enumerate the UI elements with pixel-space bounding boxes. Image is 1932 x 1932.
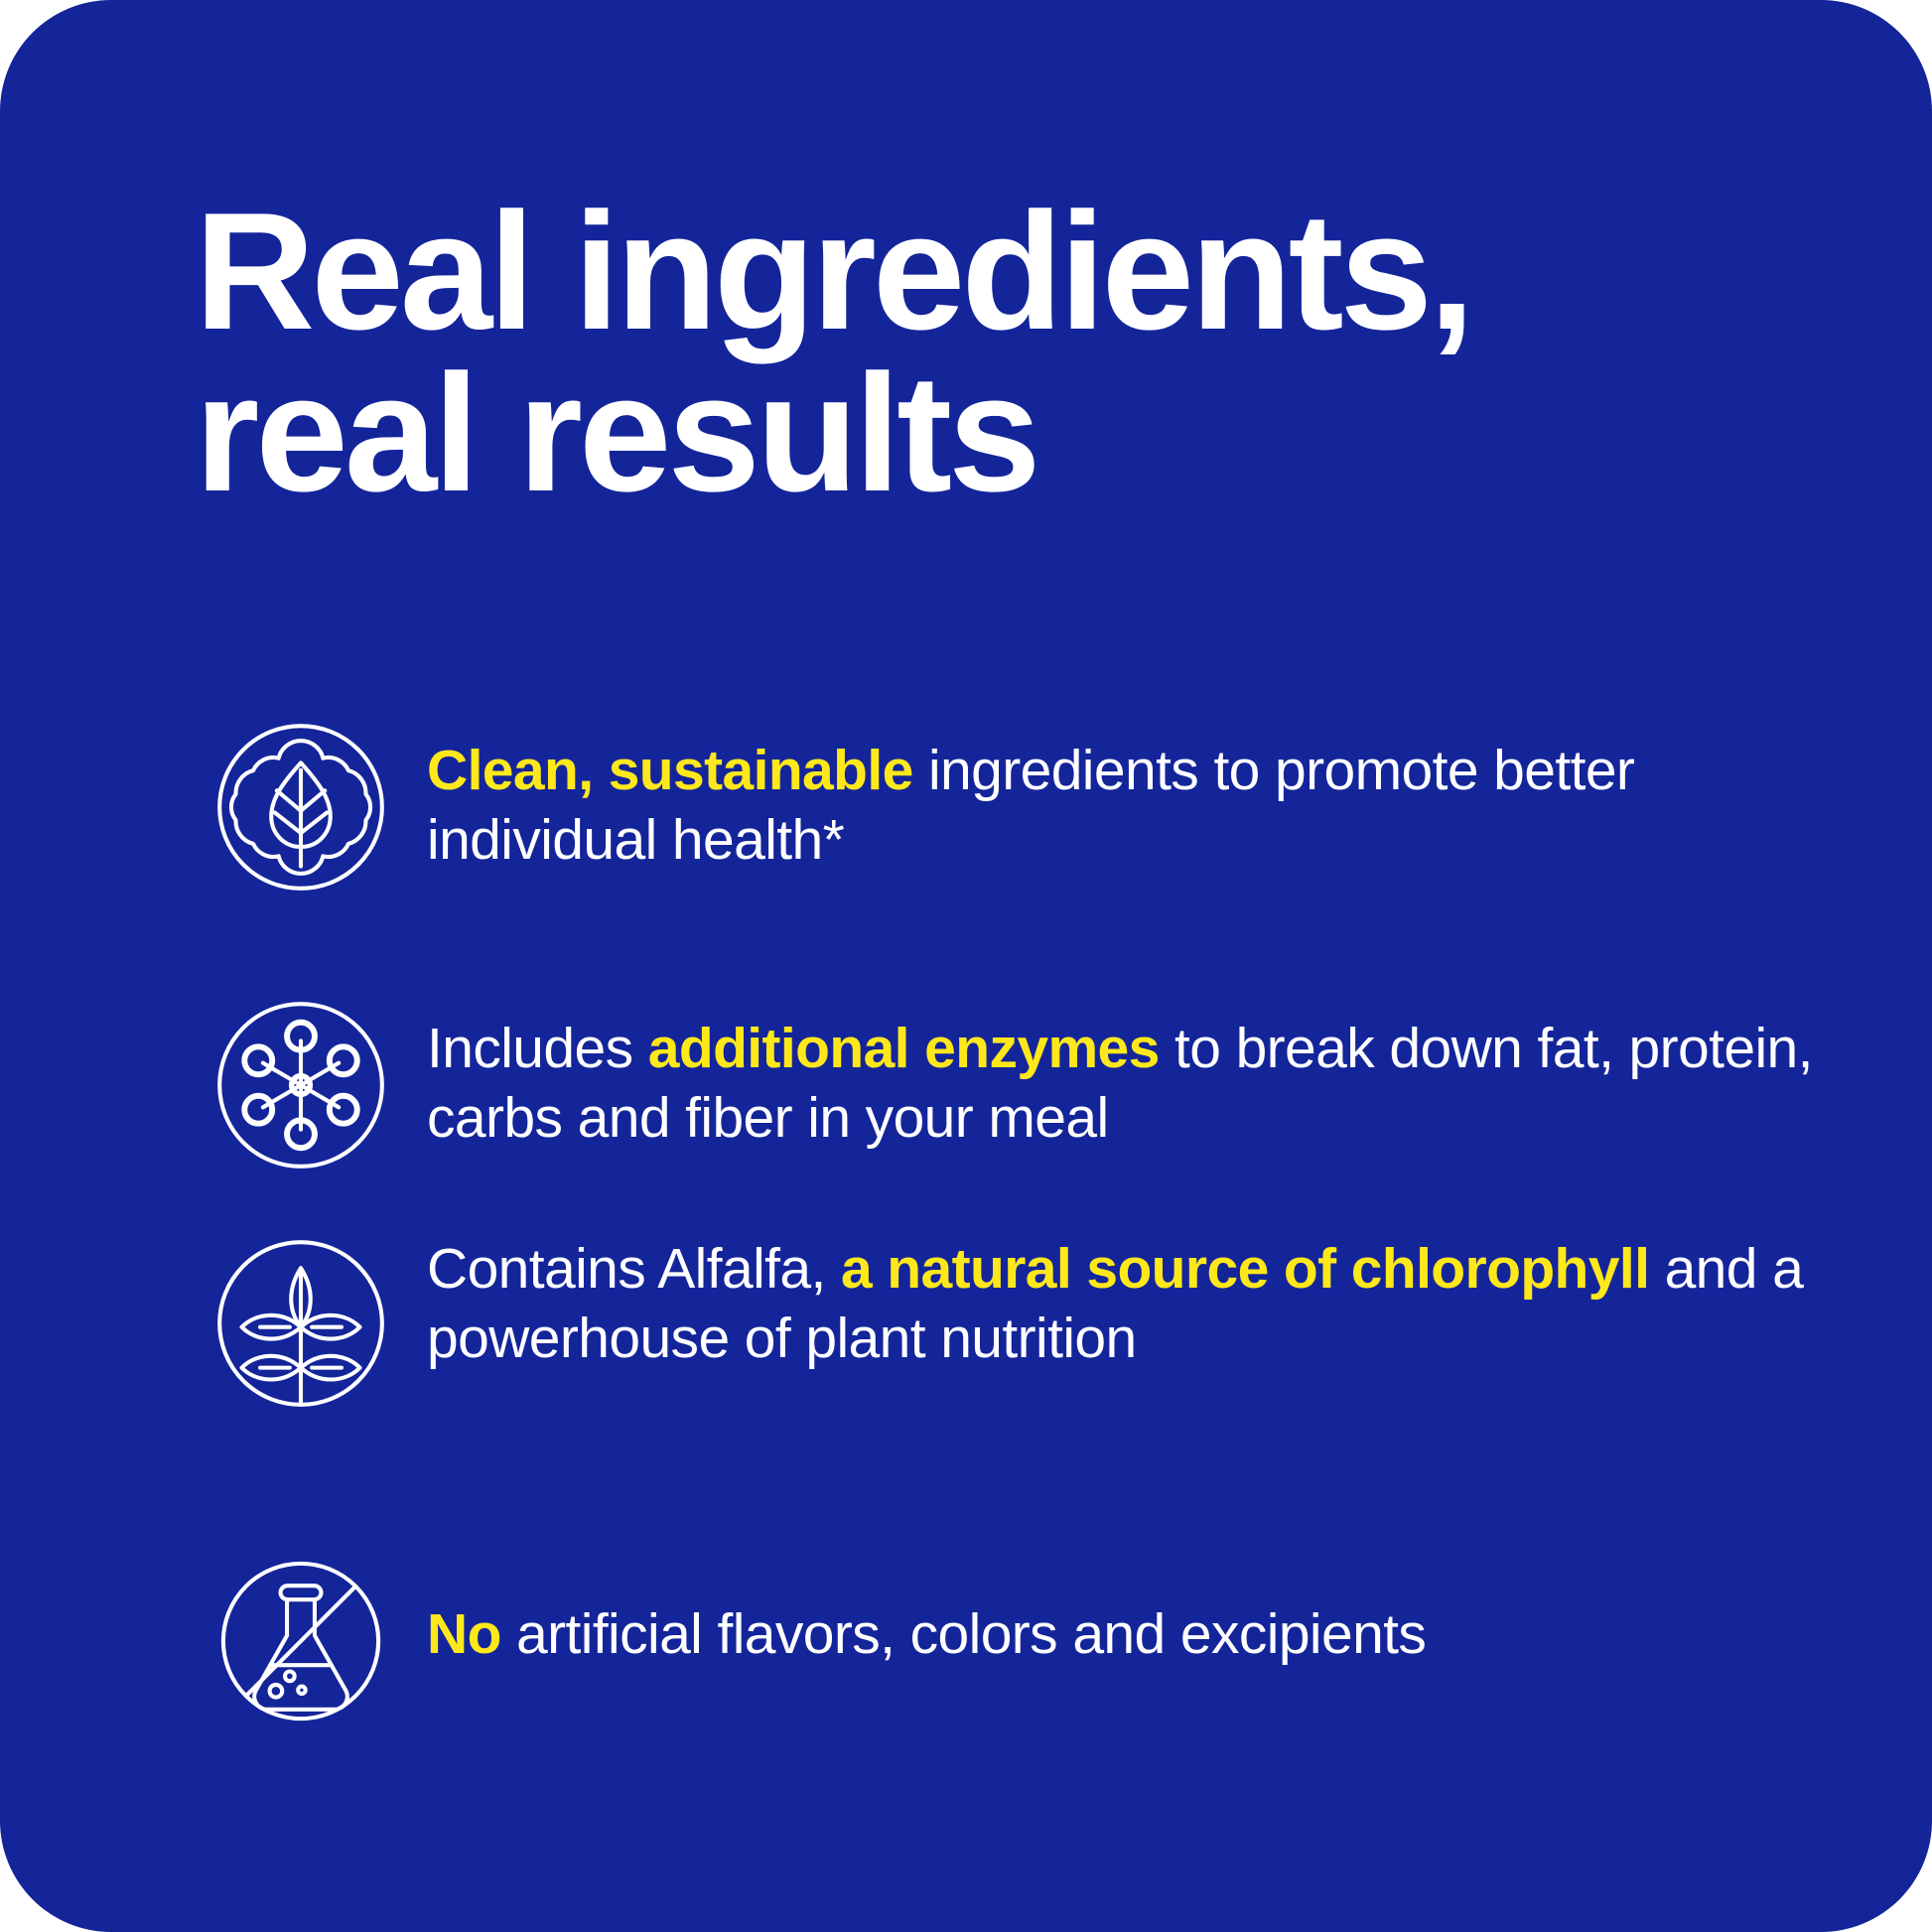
list-item: Includes additional enzymes to break dow… (208, 993, 1837, 1177)
leaf-in-cloud-icon (208, 715, 393, 899)
headline-line-1: Real ingredients, (195, 191, 1833, 352)
highlight-text: No (427, 1602, 501, 1666)
list-item: Clean, sustainable ingredients to promot… (208, 715, 1837, 899)
highlight-text: additional enzymes (648, 1017, 1160, 1080)
body-text-lead: Includes (427, 1017, 648, 1080)
list-item-label: Contains Alfalfa, a natural source of ch… (427, 1231, 1837, 1373)
list-item-label: Clean, sustainable ingredients to promot… (427, 715, 1837, 875)
highlight-text: Clean, sustainable (427, 739, 913, 802)
list-item: Contains Alfalfa, a natural source of ch… (208, 1231, 1837, 1416)
page-title: Real ingredients, real results (195, 191, 1833, 514)
highlight-text: a natural source of chlorophyll (841, 1237, 1649, 1301)
list-item-label: Includes additional enzymes to break dow… (427, 993, 1837, 1153)
list-item-label: No artificial flavors, colors and excipi… (427, 1549, 1837, 1670)
promo-card: Real ingredients, real results Clean, su… (0, 0, 1932, 1932)
no-artificial-flask-icon (208, 1549, 393, 1733)
molecule-network-icon (208, 993, 393, 1177)
body-text: artificial flavors, colors and excipient… (501, 1602, 1427, 1666)
body-text-lead: Contains Alfalfa, (427, 1237, 841, 1301)
headline-line-2: real results (195, 352, 1833, 514)
alfalfa-sprig-icon (208, 1231, 393, 1416)
list-item: No artificial flavors, colors and excipi… (208, 1549, 1837, 1733)
